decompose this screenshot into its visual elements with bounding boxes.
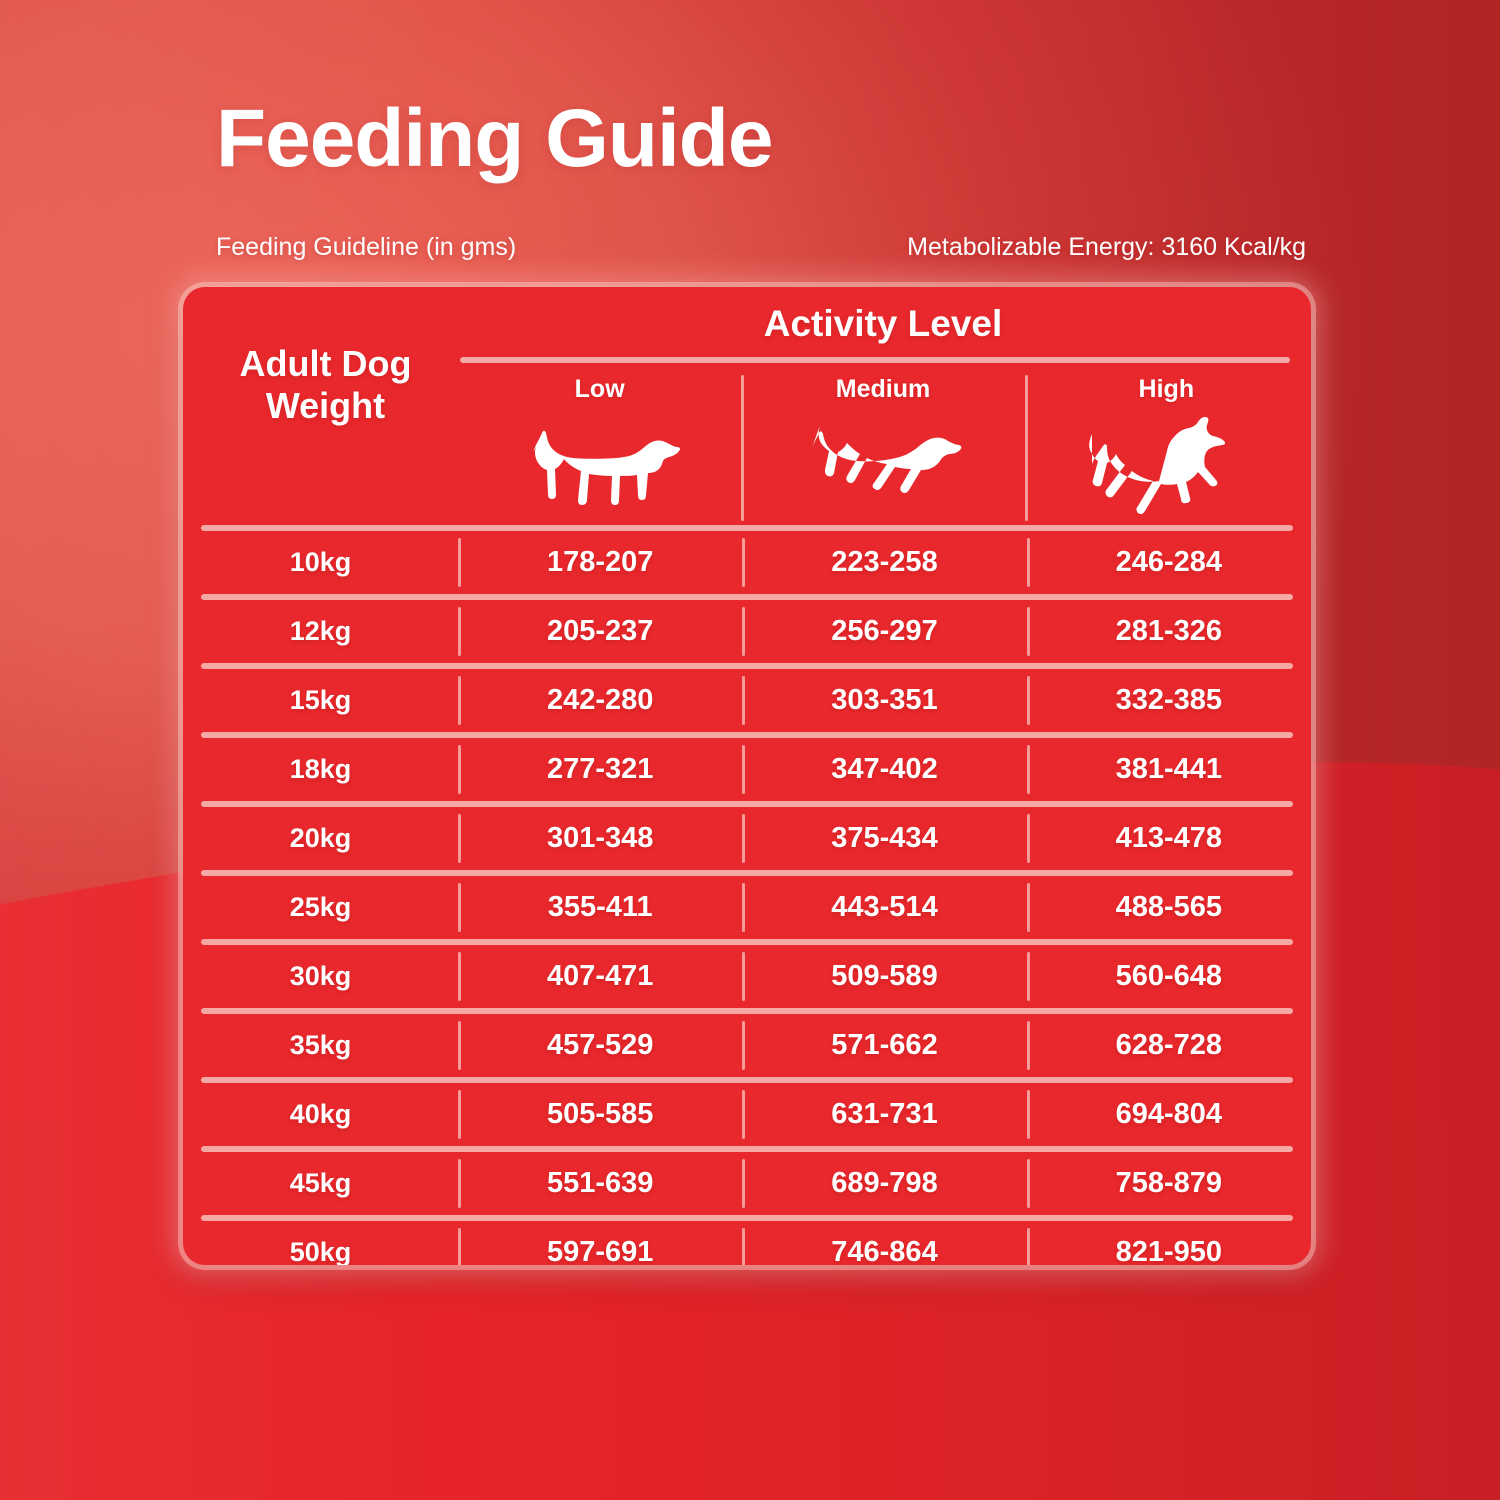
- table-row: 10kg178-207223-258246-284: [183, 531, 1311, 594]
- page-title: Feeding Guide: [216, 96, 1326, 182]
- activity-label-high: High: [1139, 375, 1195, 404]
- subtitle-row: Feeding Guideline (in gms) Metabolizable…: [216, 233, 1306, 262]
- cell-high: 281-326: [1027, 600, 1311, 663]
- cell-high: 488-565: [1027, 876, 1311, 939]
- cell-high: 758-879: [1027, 1152, 1311, 1215]
- table-row: 15kg242-280303-351332-385: [183, 669, 1311, 732]
- cell-medium: 256-297: [742, 600, 1026, 663]
- cell-high: 246-284: [1027, 531, 1311, 594]
- cell-weight: 30kg: [183, 961, 458, 992]
- row-values: 242-280303-351332-385: [458, 669, 1311, 732]
- cell-low: 205-237: [458, 600, 742, 663]
- activity-level-underline: [460, 357, 1290, 363]
- table-row: 30kg407-471509-589560-648: [183, 945, 1311, 1008]
- cell-low: 551-639: [458, 1152, 742, 1215]
- cell-medium: 347-402: [742, 738, 1026, 801]
- adult-dog-weight-header: Adult Dog Weight: [193, 343, 458, 428]
- cell-medium: 303-351: [742, 669, 1026, 732]
- activity-level-header: Activity Level: [458, 303, 1308, 345]
- cell-weight: 18kg: [183, 754, 458, 785]
- cell-high: 560-648: [1027, 945, 1311, 1008]
- cell-high: 821-950: [1027, 1221, 1311, 1265]
- row-values: 277-321347-402381-441: [458, 738, 1311, 801]
- activity-label-medium: Medium: [836, 375, 930, 404]
- table-row: 20kg301-348375-434413-478: [183, 807, 1311, 870]
- cell-high: 332-385: [1027, 669, 1311, 732]
- activity-level-columns: Low Medium High: [458, 365, 1308, 525]
- cell-medium: 746-864: [742, 1221, 1026, 1265]
- cell-high: 694-804: [1027, 1083, 1311, 1146]
- trotting-dog-icon: [803, 408, 963, 520]
- table-row: 25kg355-411443-514488-565: [183, 876, 1311, 939]
- cell-weight: 20kg: [183, 823, 458, 854]
- cell-low: 505-585: [458, 1083, 742, 1146]
- cell-low: 407-471: [458, 945, 742, 1008]
- cell-weight: 35kg: [183, 1030, 458, 1061]
- cell-medium: 509-589: [742, 945, 1026, 1008]
- cell-weight: 10kg: [183, 547, 458, 578]
- row-values: 551-639689-798758-879: [458, 1152, 1311, 1215]
- cell-low: 355-411: [458, 876, 742, 939]
- cell-medium: 571-662: [742, 1014, 1026, 1077]
- cell-weight: 45kg: [183, 1168, 458, 1199]
- row-values: 205-237256-297281-326: [458, 600, 1311, 663]
- table-row: 35kg457-529571-662628-728: [183, 1014, 1311, 1077]
- weight-header-line-2: Weight: [193, 385, 458, 427]
- cell-low: 301-348: [458, 807, 742, 870]
- cell-low: 242-280: [458, 669, 742, 732]
- cell-low: 457-529: [458, 1014, 742, 1077]
- cell-weight: 40kg: [183, 1099, 458, 1130]
- cell-high: 381-441: [1027, 738, 1311, 801]
- activity-column-high: High: [1025, 365, 1308, 525]
- row-values: 457-529571-662628-728: [458, 1014, 1311, 1077]
- row-values: 355-411443-514488-565: [458, 876, 1311, 939]
- cell-medium: 443-514: [742, 876, 1026, 939]
- cell-high: 413-478: [1027, 807, 1311, 870]
- row-values: 407-471509-589560-648: [458, 945, 1311, 1008]
- table-row: 40kg505-585631-731694-804: [183, 1083, 1311, 1146]
- row-values: 505-585631-731694-804: [458, 1083, 1311, 1146]
- cell-low: 597-691: [458, 1221, 742, 1265]
- cell-medium: 631-731: [742, 1083, 1026, 1146]
- table-row: 18kg277-321347-402381-441: [183, 738, 1311, 801]
- table-body: 10kg178-207223-258246-28412kg205-237256-…: [183, 525, 1311, 1265]
- cell-medium: 375-434: [742, 807, 1026, 870]
- row-values: 597-691746-864821-950: [458, 1221, 1311, 1265]
- row-values: 178-207223-258246-284: [458, 531, 1311, 594]
- activity-column-low: Low: [458, 365, 741, 525]
- cell-weight: 50kg: [183, 1237, 458, 1265]
- jumping-dog-icon: [1086, 408, 1246, 530]
- row-values: 301-348375-434413-478: [458, 807, 1311, 870]
- cell-weight: 15kg: [183, 685, 458, 716]
- table-row: 12kg205-237256-297281-326: [183, 600, 1311, 663]
- table-row: 45kg551-639689-798758-879: [183, 1152, 1311, 1215]
- standing-dog-icon: [520, 408, 680, 520]
- page-header: Feeding Guide: [216, 96, 1326, 182]
- cell-medium: 223-258: [742, 531, 1026, 594]
- table-header: Activity Level Adult Dog Weight Low Medi…: [183, 287, 1311, 525]
- cell-weight: 12kg: [183, 616, 458, 647]
- activity-column-medium: Medium: [741, 365, 1024, 525]
- feeding-table-card: Activity Level Adult Dog Weight Low Medi…: [183, 287, 1311, 1265]
- feeding-guideline-note: Feeding Guideline (in gms): [216, 233, 516, 262]
- cell-low: 178-207: [458, 531, 742, 594]
- cell-high: 628-728: [1027, 1014, 1311, 1077]
- feeding-guide-page: Feeding Guide Feeding Guideline (in gms)…: [0, 0, 1500, 1500]
- cell-low: 277-321: [458, 738, 742, 801]
- metabolizable-energy-note: Metabolizable Energy: 3160 Kcal/kg: [907, 233, 1306, 262]
- table-row: 50kg597-691746-864821-950: [183, 1221, 1311, 1265]
- activity-label-low: Low: [575, 375, 625, 404]
- weight-header-line-1: Adult Dog: [193, 343, 458, 385]
- cell-medium: 689-798: [742, 1152, 1026, 1215]
- cell-weight: 25kg: [183, 892, 458, 923]
